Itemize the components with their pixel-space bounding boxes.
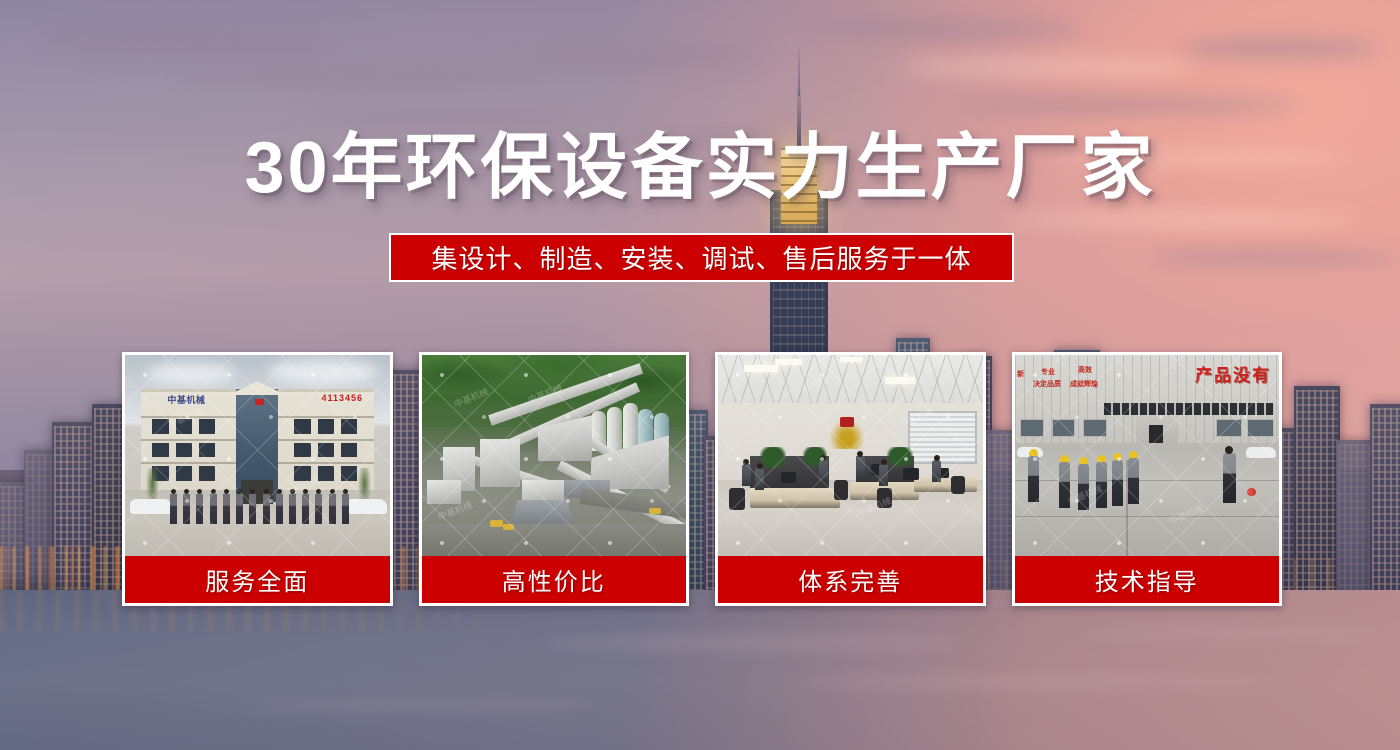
staff-figure xyxy=(196,494,203,524)
window xyxy=(1083,419,1107,437)
water-streak xyxy=(240,700,600,710)
ceiling-light xyxy=(885,377,915,384)
loader-vehicle xyxy=(649,508,661,514)
water-streak xyxy=(800,676,1280,688)
potted-plant xyxy=(887,447,913,467)
hero-banner: 30年环保设备实力生产厂家 集设计、制造、安装、调试、售后服务于一体 xyxy=(0,0,1400,750)
window xyxy=(341,419,357,434)
cloud-shape xyxy=(1180,36,1380,60)
staff-figure xyxy=(289,494,296,524)
supervisor-figure xyxy=(1223,453,1236,503)
card-label: 体系完善 xyxy=(718,556,983,603)
shed-roof xyxy=(511,500,573,524)
staff-figure xyxy=(315,494,322,524)
plant-structure xyxy=(522,480,564,502)
ceiling-light xyxy=(744,365,778,372)
page-title: 30年环保设备实力生产厂家 xyxy=(0,132,1400,204)
parked-car xyxy=(130,499,172,514)
loader-vehicle xyxy=(490,520,503,527)
staff-figure xyxy=(819,460,828,482)
window xyxy=(318,419,334,434)
worker-figure xyxy=(1128,458,1139,504)
factory-yard xyxy=(1015,443,1280,556)
office-building-photo: 中基机械 4113456 xyxy=(125,355,390,556)
office-chair xyxy=(834,480,848,500)
window xyxy=(1247,419,1273,437)
cloud-shape xyxy=(300,110,580,126)
plant-structure xyxy=(480,439,520,487)
cloud-shape xyxy=(900,56,1200,78)
window xyxy=(294,466,310,481)
factory-slogan-small: 成就辉煌 xyxy=(1070,379,1098,389)
cloud-shape xyxy=(520,46,760,68)
card-photo: 中基机械 中基机械 中基机械 xyxy=(422,355,687,556)
worker-figure xyxy=(1028,456,1039,502)
window xyxy=(176,466,192,481)
window xyxy=(318,443,334,458)
staff-figure xyxy=(276,494,283,524)
worker-figure xyxy=(1078,464,1089,510)
window xyxy=(294,443,310,458)
staff-figure xyxy=(236,494,243,524)
factory-training-photo: 产品没有 新 专业 决定品质 高效 成就辉煌 xyxy=(1015,355,1280,556)
factory-slogan-small: 新 xyxy=(1017,369,1024,379)
staff-figure xyxy=(223,494,230,524)
window xyxy=(199,466,215,481)
monitor xyxy=(903,468,919,480)
card-label: 服务全面 xyxy=(125,556,390,603)
window xyxy=(1216,419,1242,437)
ceiling-light xyxy=(840,357,862,362)
parked-car xyxy=(345,499,387,514)
staff-figure xyxy=(183,494,190,524)
office-chair xyxy=(877,488,892,508)
staff-figure xyxy=(329,494,336,524)
card-photo: 产品没有 新 专业 决定品质 高效 成就辉煌 xyxy=(1015,355,1280,556)
factory-slogan-small: 高效 xyxy=(1078,365,1092,375)
cloud-shape xyxy=(268,359,378,385)
staff-figure xyxy=(879,464,888,486)
water-streak xyxy=(1080,628,1380,638)
plant-structure xyxy=(427,480,461,504)
card-photo: 中基机械 中基机械 中基机械 xyxy=(718,355,983,556)
cloud-shape xyxy=(180,64,540,84)
window xyxy=(341,466,357,481)
window xyxy=(318,466,334,481)
ceiling-grid xyxy=(718,355,983,407)
feature-card[interactable]: 中基机械 4113456 xyxy=(122,352,393,606)
cloud-shape xyxy=(40,30,340,56)
cloud-shape xyxy=(146,363,236,385)
factory-slogan-small: 决定品质 xyxy=(1033,379,1061,389)
company-sign-text: 中基机械 xyxy=(167,393,205,406)
staff-figure xyxy=(170,494,177,524)
potted-plant xyxy=(760,447,786,469)
ceiling-light xyxy=(776,359,802,365)
window xyxy=(1052,419,1076,437)
water-streak xyxy=(540,636,960,650)
feature-card[interactable]: 中基机械 中基机械 中基机械 体系完善 xyxy=(715,352,986,606)
window xyxy=(152,443,168,458)
office-interior-photo xyxy=(718,355,983,556)
wall-decal xyxy=(826,415,868,449)
office-chair xyxy=(729,488,745,510)
tower-antenna xyxy=(798,44,800,96)
pavement-line xyxy=(1015,480,1280,481)
window xyxy=(152,419,168,434)
silo xyxy=(607,407,622,451)
staff-figure xyxy=(302,494,309,524)
worker-figure xyxy=(1059,462,1070,508)
pavement-line xyxy=(1015,516,1280,517)
cloud-shape xyxy=(960,96,1300,114)
plant-road xyxy=(580,488,686,520)
company-phone-text: 4113456 xyxy=(322,393,364,403)
loader-vehicle xyxy=(503,524,514,530)
staff-figure xyxy=(210,494,217,524)
worker-figure xyxy=(1112,460,1123,506)
silo xyxy=(623,403,638,451)
card-photo: 中基机械 4113456 xyxy=(125,355,390,556)
window xyxy=(199,419,215,434)
feature-card[interactable]: 产品没有 新 专业 决定品质 高效 成就辉煌 xyxy=(1012,352,1283,606)
window xyxy=(176,443,192,458)
worker-figure xyxy=(1096,462,1107,508)
office-chair xyxy=(951,476,965,494)
aerial-plant-photo xyxy=(422,355,687,556)
monitor xyxy=(781,472,796,483)
window xyxy=(176,419,192,434)
factory-slogan-large: 产品没有 xyxy=(1195,361,1271,386)
staff-figure xyxy=(932,460,941,482)
flag-icon xyxy=(255,399,264,405)
staff-figure xyxy=(755,468,764,490)
card-label: 高性价比 xyxy=(422,556,687,603)
window-blinds xyxy=(908,411,977,463)
red-helmet-icon xyxy=(1247,488,1256,496)
feature-card[interactable]: 中基机械 中基机械 中基机械 高性价比 xyxy=(419,352,690,606)
desk xyxy=(914,476,977,492)
desk xyxy=(750,488,840,508)
cloud-shape xyxy=(820,20,1080,38)
window xyxy=(1020,419,1044,437)
ceiling xyxy=(718,355,983,407)
staff-figure xyxy=(249,494,256,524)
building xyxy=(1370,404,1400,600)
window xyxy=(294,419,310,434)
staff-figure xyxy=(742,464,751,486)
feature-card-list: 中基机械 4113456 xyxy=(122,352,1282,606)
plant-road xyxy=(422,524,687,556)
staff-figure xyxy=(856,456,865,478)
window xyxy=(199,443,215,458)
window xyxy=(341,443,357,458)
subtitle-text: 集设计、制造、安装、调试、售后服务于一体 xyxy=(431,239,971,276)
subtitle-banner: 集设计、制造、安装、调试、售后服务于一体 xyxy=(389,233,1014,282)
factory-slogan-small: 专业 xyxy=(1041,367,1055,377)
staff-figure xyxy=(263,494,270,524)
card-label: 技术指导 xyxy=(1015,556,1280,603)
staff-figure xyxy=(342,494,349,524)
window-strip xyxy=(1104,403,1273,415)
parked-car xyxy=(1246,447,1276,458)
